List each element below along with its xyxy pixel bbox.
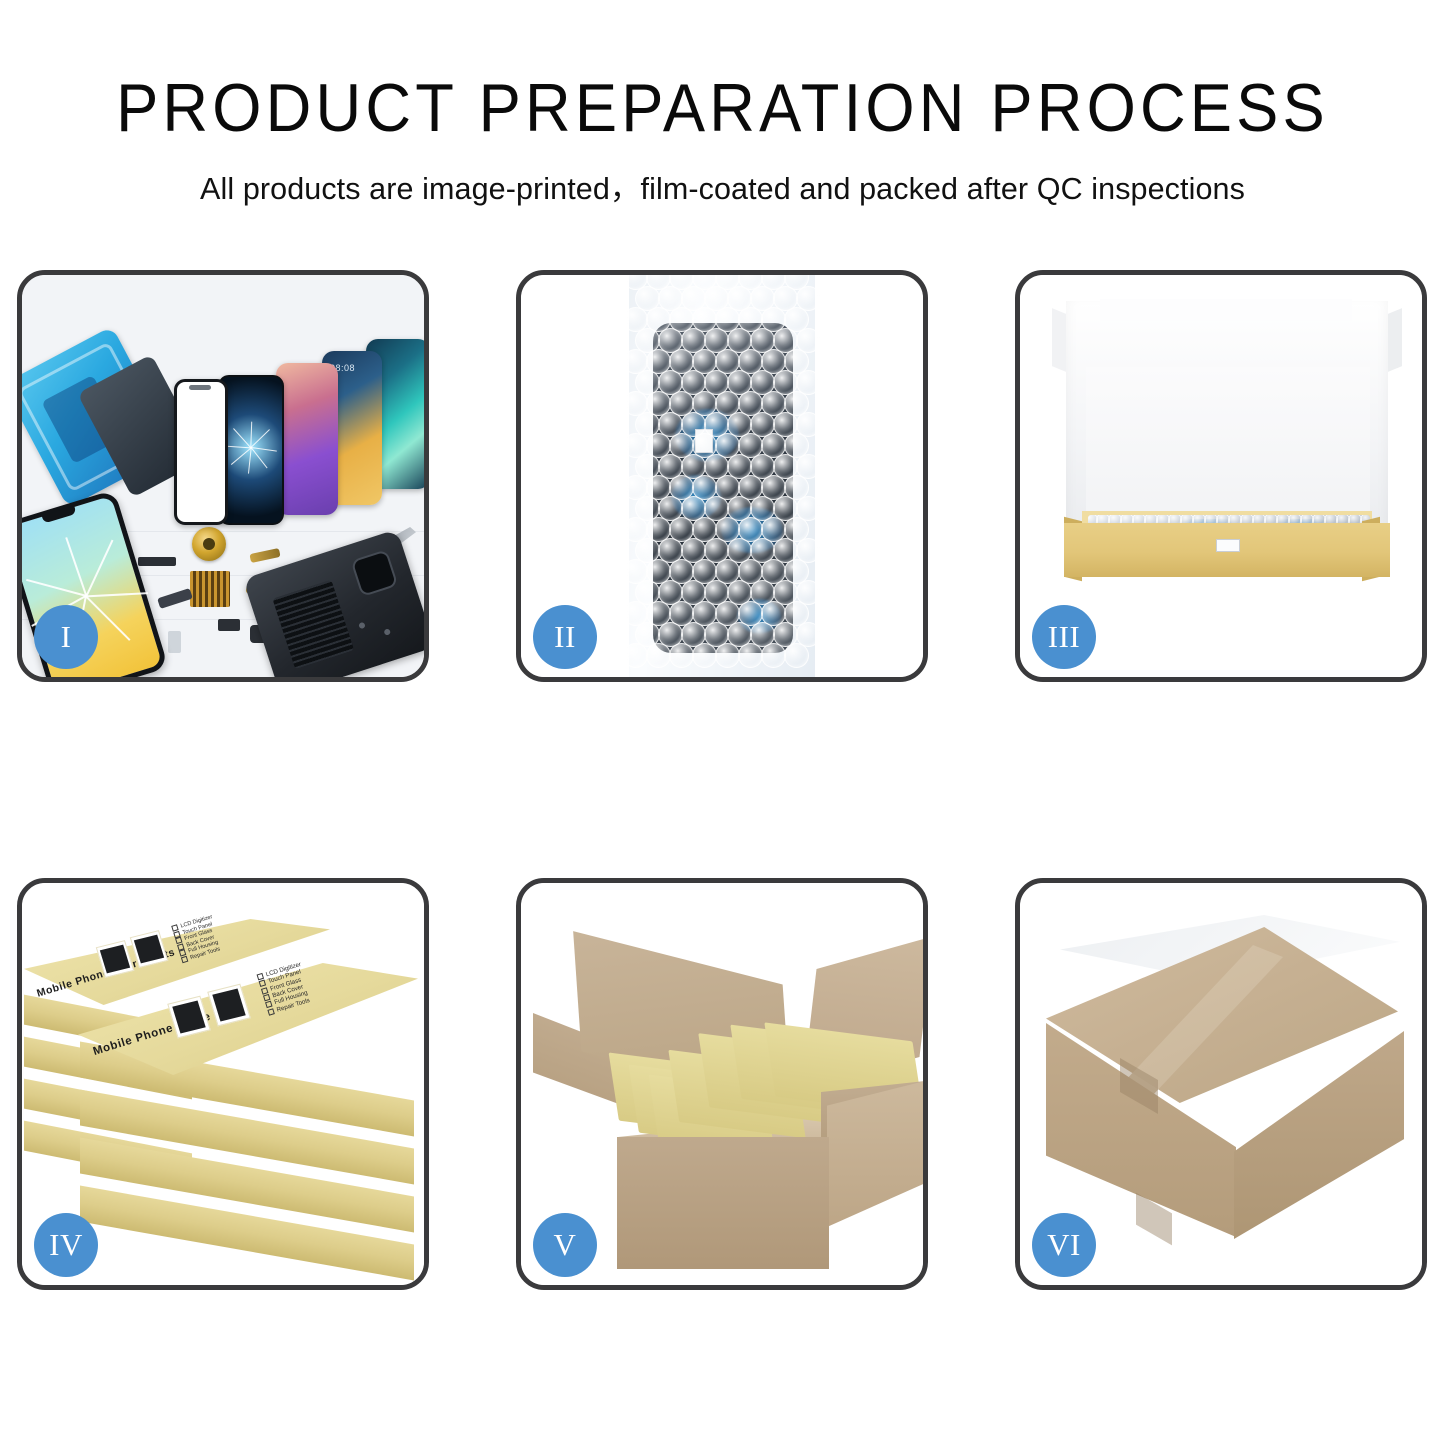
bubble-grid bbox=[629, 275, 815, 677]
connector-part bbox=[218, 619, 240, 631]
step-panel-2[interactable]: II bbox=[516, 270, 928, 682]
bubble bbox=[623, 643, 648, 668]
step-badge-6: VI bbox=[1032, 1213, 1096, 1277]
bubble-wrap-bag bbox=[629, 275, 815, 677]
step-badge-4: IV bbox=[34, 1213, 98, 1277]
front-glass-panel bbox=[174, 379, 228, 525]
crack-pattern bbox=[225, 421, 277, 473]
box-lid-flap bbox=[1100, 299, 1352, 321]
bubble bbox=[715, 643, 740, 668]
step-panel-1[interactable]: 08:08 bbox=[17, 270, 429, 682]
step-panel-6[interactable]: VI bbox=[1015, 878, 1427, 1290]
step-badge-2: II bbox=[533, 605, 597, 669]
step-panel-5[interactable]: V bbox=[516, 878, 928, 1290]
step-panel-3[interactable]: III bbox=[1015, 270, 1427, 682]
flex-cable-3 bbox=[157, 588, 193, 609]
bubble bbox=[738, 643, 763, 668]
foam-sheet bbox=[1086, 367, 1370, 523]
bubble bbox=[761, 643, 786, 668]
phone-purple bbox=[276, 363, 338, 515]
carton-front bbox=[617, 1137, 829, 1269]
step-badge-5: V bbox=[533, 1213, 597, 1277]
flex-cable-1 bbox=[249, 548, 280, 563]
bubble bbox=[646, 643, 671, 668]
page-header: PRODUCT PREPARATION PROCESS All products… bbox=[0, 0, 1445, 208]
page-subtitle: All products are image-printed，film-coat… bbox=[0, 164, 1445, 208]
process-step-grid: 08:08 bbox=[17, 270, 1428, 1430]
product-sticker bbox=[1216, 539, 1240, 552]
bubble bbox=[784, 643, 809, 668]
step-badge-1: I bbox=[34, 605, 98, 669]
sim-tray-part bbox=[168, 631, 181, 653]
step-panel-4[interactable]: Mobile Phone Spare Parts LCD Digitizer T… bbox=[17, 878, 429, 1290]
bubble bbox=[669, 643, 694, 668]
bubble bbox=[692, 643, 717, 668]
speaker-part bbox=[138, 557, 176, 566]
vibrator-coil bbox=[192, 527, 226, 561]
ic-chip bbox=[190, 571, 230, 607]
page-title: PRODUCT PREPARATION PROCESS bbox=[51, 74, 1395, 142]
step-badge-3: III bbox=[1032, 605, 1096, 669]
